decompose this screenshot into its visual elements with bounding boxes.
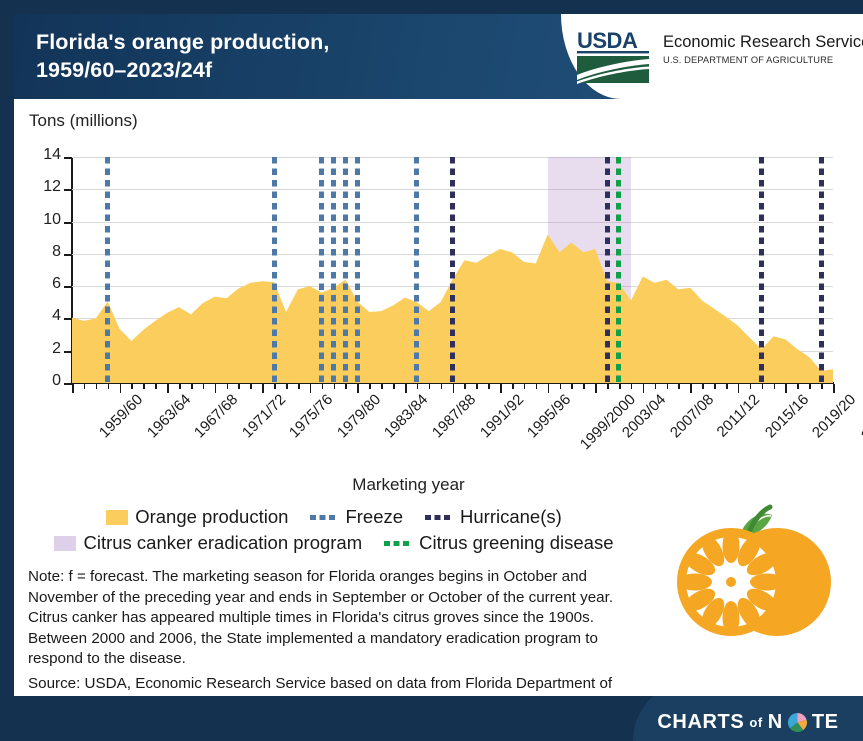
pie-chart-icon: [788, 713, 807, 732]
legend-swatch-hurricanes: [425, 515, 453, 520]
x-tick-minor: [750, 384, 752, 389]
x-axis-title: Marketing year: [0, 475, 833, 495]
x-tick-minor: [488, 384, 490, 389]
usda-seal-icon: USDA: [577, 28, 653, 86]
x-tick-minor: [191, 384, 193, 389]
card-body: Tons (millions) 02468101214 1959/601963/…: [14, 99, 863, 696]
chart-card: Florida's orange production, 1959/60–202…: [0, 0, 863, 741]
x-tick-minor: [179, 384, 181, 389]
page-title-line1: Florida's orange production,: [36, 30, 329, 54]
x-tick-minor: [96, 384, 98, 389]
usda-logo-panel: USDA Economic Research Service U.S. DEPA…: [561, 14, 863, 99]
legend-swatch-citrus-canker-eradication-program: [54, 536, 76, 551]
x-tick-minor: [464, 384, 466, 389]
y-tick-label: 12: [31, 178, 61, 196]
freeze-marker: [331, 157, 336, 383]
x-tick-minor: [631, 384, 633, 389]
note-word-te: TE: [812, 711, 839, 734]
x-tick-minor: [417, 384, 419, 389]
x-tick-label: 1987/88: [429, 391, 479, 441]
legend-item-hurricanes[interactable]: Hurricane(s): [425, 504, 562, 530]
usda-logo: USDA Economic Research Service U.S. DEPA…: [577, 28, 855, 86]
x-tick-minor: [286, 384, 288, 389]
freeze-marker: [272, 157, 277, 383]
note-text: Note: f = forecast. The marketing season…: [28, 567, 650, 670]
y-tick-label: 4: [31, 307, 61, 325]
x-tick-minor: [524, 384, 526, 389]
page-title-line2: 1959/60–2023/24f: [36, 56, 576, 84]
x-tick-label: 1971/72: [239, 391, 289, 441]
x-tick-label: 1983/84: [381, 391, 431, 441]
x-tick-minor: [274, 384, 276, 389]
legend-label-freeze: Freeze: [345, 504, 403, 530]
x-axis-label-group: 1959/601963/641967/681971/721975/761979/…: [14, 391, 863, 487]
x-tick-label: 1963/64: [143, 391, 193, 441]
y-tick-label: 8: [31, 243, 61, 261]
x-tick-label: 2007/08: [667, 391, 717, 441]
legend-label-citrus-canker-eradication-program: Citrus canker eradication program: [83, 530, 362, 556]
x-tick-minor: [571, 384, 573, 389]
chart-area: 02468101214: [14, 139, 863, 394]
x-tick-minor: [238, 384, 240, 389]
plot-region: [72, 157, 833, 383]
x-tick-label: 1967/68: [191, 391, 241, 441]
x-tick-minor: [809, 384, 811, 389]
department-name: U.S. DEPARTMENT OF AGRICULTURE: [663, 55, 863, 65]
x-tick-minor: [560, 384, 562, 389]
x-tick-minor: [429, 384, 431, 389]
legend-swatch-citrus-greening-disease: [384, 541, 412, 546]
x-tick-minor: [619, 384, 621, 389]
legend-label-orange-production: Orange production: [135, 504, 288, 530]
x-tick-label: 2023/24f: [858, 391, 863, 444]
x-tick-minor: [143, 384, 145, 389]
y-tick-label: 0: [31, 372, 61, 390]
x-tick-minor: [702, 384, 704, 389]
x-tick-minor: [536, 384, 538, 389]
x-tick-minor: [797, 384, 799, 389]
x-tick-minor: [726, 384, 728, 389]
freeze-marker: [319, 157, 324, 383]
hurricane-marker: [819, 157, 824, 383]
agency-name: Economic Research Service: [663, 32, 863, 52]
citrus-greening-marker: [616, 157, 621, 383]
x-tick-label: 1995/96: [524, 391, 574, 441]
x-tick-minor: [655, 384, 657, 389]
x-tick-label: 2011/12: [714, 391, 764, 441]
charts-of-note-logo: CHARTS of N TE: [657, 711, 838, 734]
freeze-marker: [343, 157, 348, 383]
legend-label-hurricanes: Hurricane(s): [460, 504, 562, 530]
of-word: of: [749, 715, 762, 730]
x-tick-minor: [821, 384, 823, 389]
x-tick-minor: [298, 384, 300, 389]
hurricane-marker: [759, 157, 764, 383]
x-tick-label: 1975/76: [286, 391, 336, 441]
y-tick-label: 10: [31, 211, 61, 229]
x-tick-label: 1979/80: [334, 391, 384, 441]
legend-row-1: Orange productionFreezeHurricane(s): [14, 504, 654, 530]
chart-legend: Orange productionFreezeHurricane(s) Citr…: [14, 504, 654, 556]
x-tick-minor: [227, 384, 229, 389]
x-tick-minor: [334, 384, 336, 389]
x-tick-minor: [667, 384, 669, 389]
x-tick-minor: [607, 384, 609, 389]
svg-text:USDA: USDA: [577, 28, 638, 53]
orange-fruit-illustration: [664, 503, 849, 653]
x-tick-minor: [774, 384, 776, 389]
card-footer: CHARTS of N TE: [14, 696, 863, 741]
x-tick-minor: [678, 384, 680, 389]
legend-item-citrus-canker-eradication-program[interactable]: Citrus canker eradication program: [54, 530, 362, 556]
x-tick-minor: [84, 384, 86, 389]
x-tick-minor: [381, 384, 383, 389]
x-tick-minor: [203, 384, 205, 389]
x-tick-label: 1991/92: [476, 391, 526, 441]
freeze-marker: [105, 157, 110, 383]
legend-label-citrus-greening-disease: Citrus greening disease: [419, 530, 613, 556]
legend-item-freeze[interactable]: Freeze: [310, 504, 403, 530]
freeze-marker: [414, 157, 419, 383]
x-tick-minor: [441, 384, 443, 389]
x-tick-minor: [369, 384, 371, 389]
x-tick-minor: [393, 384, 395, 389]
legend-row-2: Citrus canker eradication programCitrus …: [14, 530, 654, 556]
x-tick-minor: [512, 384, 514, 389]
x-tick-minor: [762, 384, 764, 389]
x-tick-label: 2019/20: [809, 391, 859, 441]
x-tick-label: 2015/16: [762, 391, 812, 441]
freeze-marker: [355, 157, 360, 383]
x-tick-minor: [131, 384, 133, 389]
hurricane-marker: [605, 157, 610, 383]
x-tick-minor: [155, 384, 157, 389]
legend-swatch-freeze: [310, 515, 338, 520]
charts-word: CHARTS: [657, 711, 744, 734]
legend-item-citrus-greening-disease[interactable]: Citrus greening disease: [384, 530, 613, 556]
x-tick-minor: [476, 384, 478, 389]
y-tick-label: 6: [31, 275, 61, 293]
page-title: Florida's orange production, 1959/60–202…: [36, 28, 576, 84]
x-tick-minor: [108, 384, 110, 389]
legend-item-orange-production[interactable]: Orange production: [106, 504, 288, 530]
x-tick-minor: [714, 384, 716, 389]
card-header: Florida's orange production, 1959/60–202…: [14, 14, 863, 99]
y-tick-label: 14: [31, 146, 61, 164]
legend-swatch-orange-production: [106, 510, 128, 525]
y-tick-label: 2: [31, 340, 61, 358]
x-tick-minor: [345, 384, 347, 389]
x-tick-minor: [583, 384, 585, 389]
x-tick-label: 1959/60: [96, 391, 146, 441]
x-tick-minor: [250, 384, 252, 389]
usda-wordmark: Economic Research Service U.S. DEPARTMEN…: [663, 28, 863, 65]
x-axis-labels: 1959/601963/641967/681971/721975/761979/…: [14, 391, 863, 481]
y-axis-title: Tons (millions): [29, 111, 138, 131]
x-tick-minor: [322, 384, 324, 389]
hurricane-marker: [450, 157, 455, 383]
charts-of-note-badge: CHARTS of N TE: [633, 696, 863, 741]
note-word-n: N: [768, 711, 783, 734]
